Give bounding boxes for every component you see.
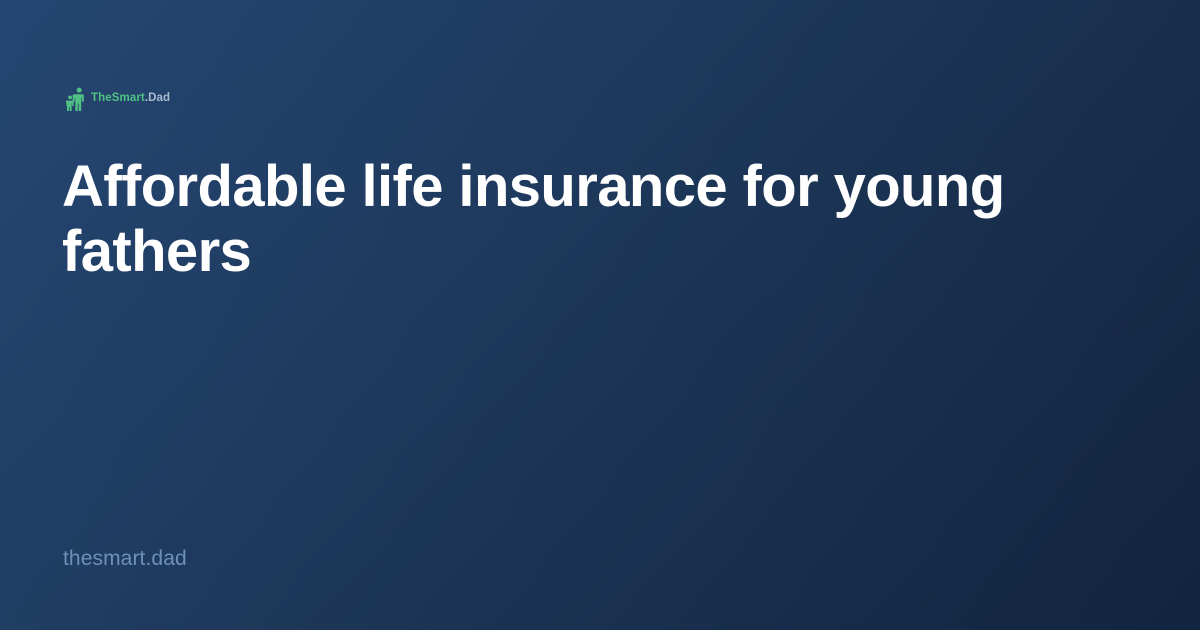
- brand-name-suffix: .Dad: [145, 92, 170, 104]
- brand-wordmark: TheSmart.Dad: [91, 93, 170, 105]
- background-gradient-overlay: [0, 0, 1200, 630]
- open-graph-card: TheSmart.Dad Affordable life insurance f…: [0, 0, 1200, 630]
- page-title: Affordable life insurance for young fath…: [62, 155, 1082, 285]
- brand-logo[interactable]: TheSmart.Dad: [66, 86, 170, 112]
- site-url[interactable]: thesmart.dad: [63, 546, 187, 571]
- parent-and-child-icon: [66, 87, 86, 111]
- brand-name-primary: TheSmart: [91, 92, 145, 104]
